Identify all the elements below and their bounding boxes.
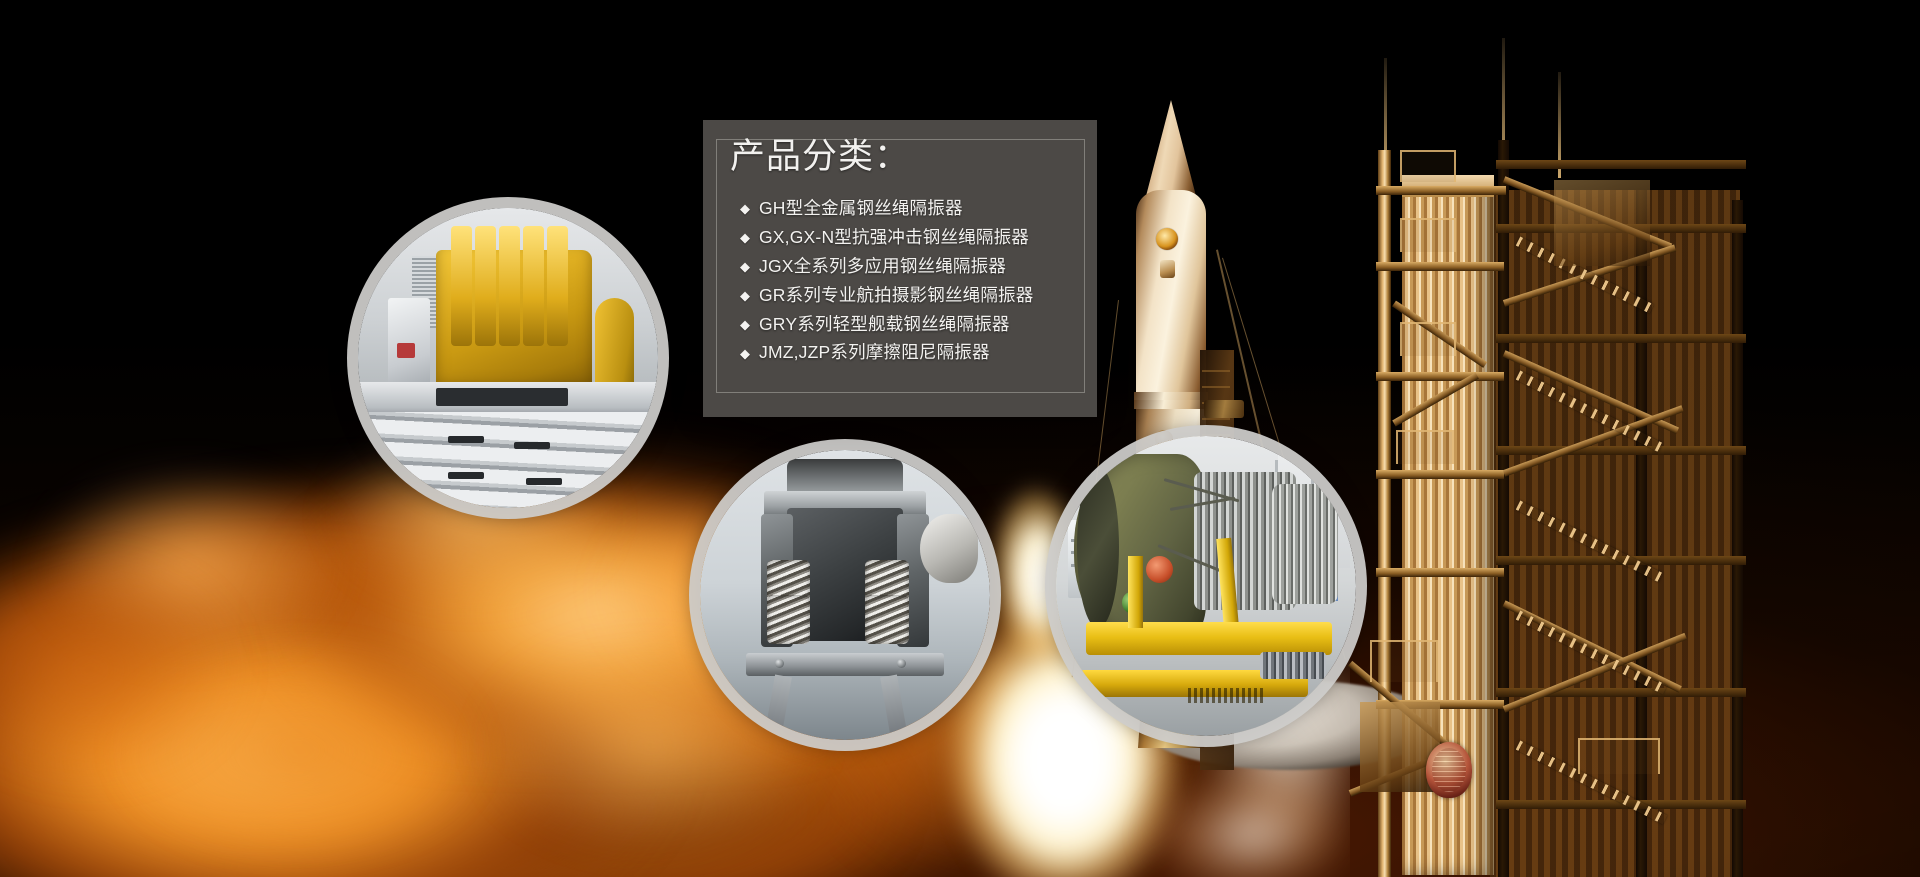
list-item[interactable]: ◆ GH型全金属钢丝绳隔振器 — [740, 198, 1081, 220]
photo-circle-wire-rope-isolator[interactable] — [700, 450, 990, 740]
list-item-label: JGX全系列多应用钢丝绳隔振器 — [759, 256, 1006, 278]
photo-circle-diesel-generator[interactable] — [358, 208, 658, 508]
list-item-label: GH型全金属钢丝绳隔振器 — [759, 198, 963, 220]
banner-stage: 产品分类： ◆ GH型全金属钢丝绳隔振器 ◆ GX,GX-N型抗强冲击钢丝绳隔振… — [0, 0, 1920, 877]
diamond-bullet-icon: ◆ — [740, 318, 750, 331]
list-item[interactable]: ◆ GRY系列轻型舰载钢丝绳隔振器 — [740, 314, 1081, 336]
list-item[interactable]: ◆ GR系列专业航拍摄影钢丝绳隔振器 — [740, 285, 1081, 307]
diamond-bullet-icon: ◆ — [740, 231, 750, 244]
list-item-label: GX,GX-N型抗强冲击钢丝绳隔振器 — [759, 227, 1029, 249]
list-item-label: JMZ,JZP系列摩擦阻尼隔振器 — [759, 342, 990, 364]
tower-platform — [1396, 430, 1454, 464]
tower-platform — [1578, 738, 1660, 774]
diamond-bullet-icon: ◆ — [740, 202, 750, 215]
diamond-bullet-icon: ◆ — [740, 289, 750, 302]
rocket-upper-stage — [1136, 190, 1206, 400]
list-item-label: GR系列专业航拍摄影钢丝绳隔振器 — [759, 285, 1033, 307]
list-item[interactable]: ◆ GX,GX-N型抗强冲击钢丝绳隔振器 — [740, 227, 1081, 249]
list-item[interactable]: ◆ JGX全系列多应用钢丝绳隔振器 — [740, 256, 1081, 278]
mission-patch-icon — [1156, 228, 1178, 250]
photo-circle-turbine-engine[interactable] — [1056, 436, 1356, 736]
tower-platform — [1370, 640, 1438, 682]
diamond-bullet-icon: ◆ — [740, 260, 750, 273]
product-category-panel: 产品分类： ◆ GH型全金属钢丝绳隔振器 ◆ GX,GX-N型抗强冲击钢丝绳隔振… — [703, 120, 1097, 417]
diamond-bullet-icon: ◆ — [740, 347, 750, 360]
tower-globe-emblem — [1426, 742, 1472, 798]
tower-platform — [1400, 218, 1456, 252]
launch-tower — [1340, 0, 1760, 877]
tower-platform — [1400, 150, 1456, 182]
panel-title: 产品分类： — [730, 138, 910, 177]
product-category-list: ◆ GH型全金属钢丝绳隔振器 ◆ GX,GX-N型抗强冲击钢丝绳隔振器 ◆ JG… — [740, 198, 1081, 371]
rocket-nose-cone — [1146, 100, 1196, 196]
tower-platform — [1400, 322, 1456, 356]
list-item-label: GRY系列轻型舰载钢丝绳隔振器 — [759, 314, 1010, 336]
agency-patch-icon — [1160, 260, 1175, 278]
list-item[interactable]: ◆ JMZ,JZP系列摩擦阻尼隔振器 — [740, 342, 1081, 364]
